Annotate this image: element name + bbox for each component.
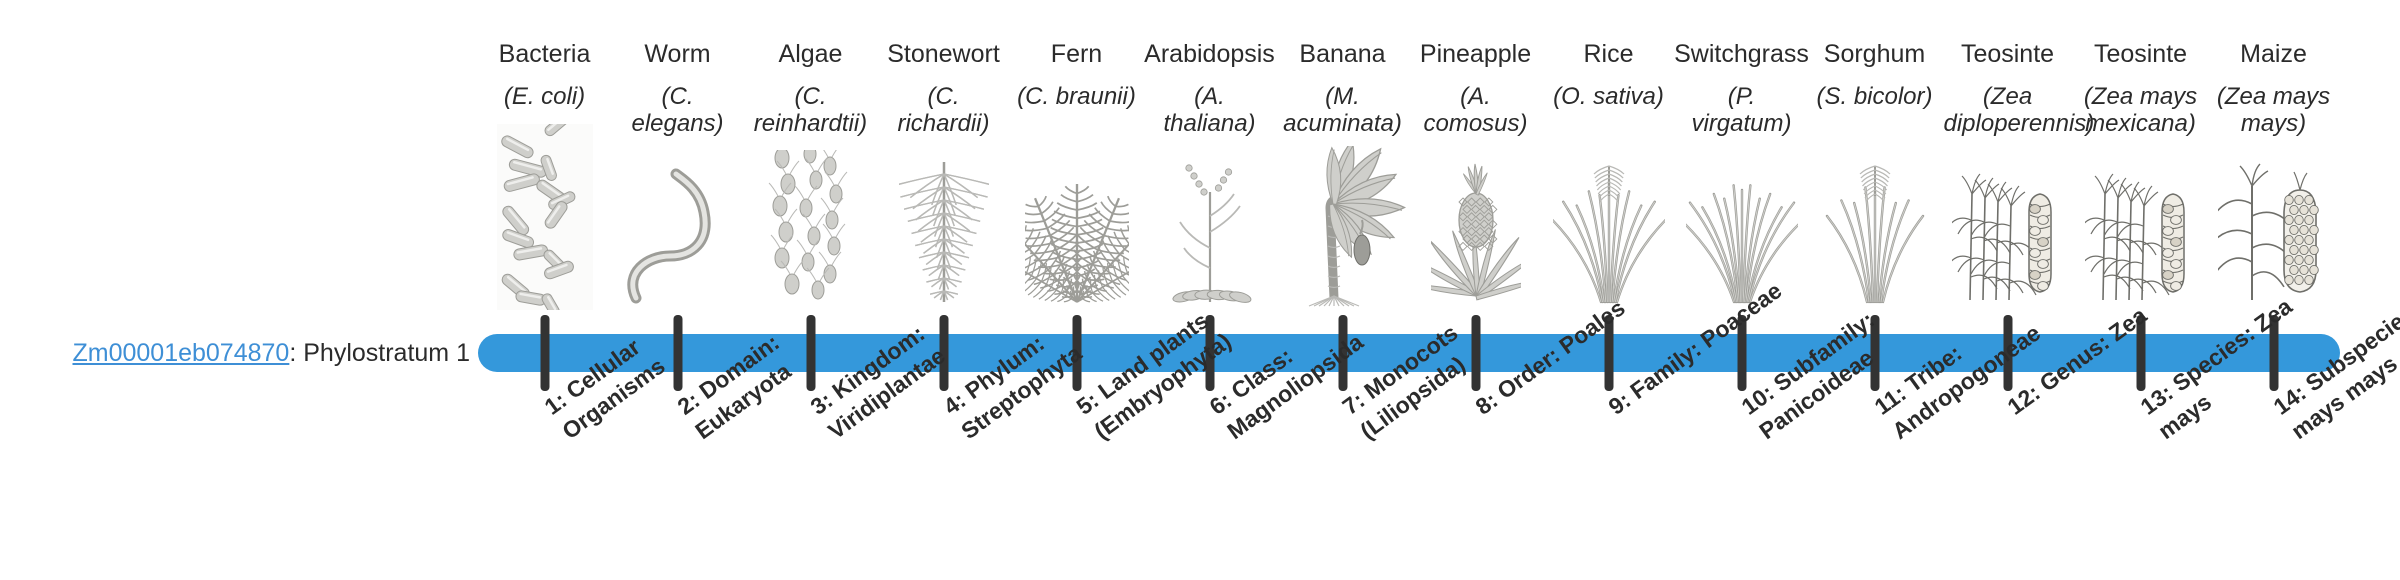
species-latin-name: (C. richardii) xyxy=(880,83,1008,138)
gene-phylostratum-value: Phylostratum 1 xyxy=(303,339,470,367)
bacteria-rods-icon xyxy=(497,124,593,310)
gene-label-separator: : xyxy=(289,339,303,367)
species-common-name: Worm xyxy=(644,40,710,69)
species-common-name: Rice xyxy=(1583,40,1633,69)
species-latin-name: (C. elegans) xyxy=(614,83,742,138)
species-common-name: Pineapple xyxy=(1420,40,1531,69)
species-latin-name: (S. bicolor) xyxy=(1816,83,1932,111)
species-latin-name: (M. acuminata) xyxy=(1279,83,1407,138)
species-common-name: Fern xyxy=(1051,40,1102,69)
species-latin-name: (Zea mays mays) xyxy=(2210,83,2338,138)
species-latin-name: (Zea mays mexicana) xyxy=(2077,83,2205,138)
species-latin-name: (A. thaliana) xyxy=(1146,83,1274,138)
species-latin-name: (P. virgatum) xyxy=(1678,83,1806,138)
bacteria-rods-icon xyxy=(478,116,611,310)
phylostratigraphy-diagram: Zm00001eb074870: Phylostratum 1 Bacteria… xyxy=(0,0,2400,580)
species-common-name: Arabidopsis xyxy=(1144,40,1275,69)
species-common-name: Teosinte xyxy=(2094,40,2187,69)
species-latin-name: (C. braunii) xyxy=(1017,83,1136,111)
species-column: Bacteria(E. coli) xyxy=(478,40,611,310)
species-latin-name: (O. sativa) xyxy=(1553,83,1664,111)
gene-id-link[interactable]: Zm00001eb074870 xyxy=(72,339,289,367)
species-common-name: Algae xyxy=(779,40,843,69)
species-common-name: Switchgrass xyxy=(1674,40,1809,69)
species-common-name: Bacteria xyxy=(499,40,591,69)
species-latin-name: (E. coli) xyxy=(504,83,585,111)
species-columns: Bacteria(E. coli) xyxy=(478,40,2340,310)
species-common-name: Banana xyxy=(1299,40,1385,69)
species-latin-name: (C. reinhardtii) xyxy=(747,83,875,138)
species-latin-name: (Zea diploperennis) xyxy=(1944,83,2072,138)
species-common-name: Stonewort xyxy=(887,40,1000,69)
gene-phylostratum-label: Zm00001eb074870: Phylostratum 1 xyxy=(40,338,470,368)
species-common-name: Teosinte xyxy=(1961,40,2054,69)
species-common-name: Maize xyxy=(2240,40,2307,69)
species-latin-name: (A. comosus) xyxy=(1412,83,1540,138)
species-common-name: Sorghum xyxy=(1824,40,1925,69)
taxonomic-rank-labels: 1: Cellular Organisms2: Domain: Eukaryot… xyxy=(478,398,2340,580)
